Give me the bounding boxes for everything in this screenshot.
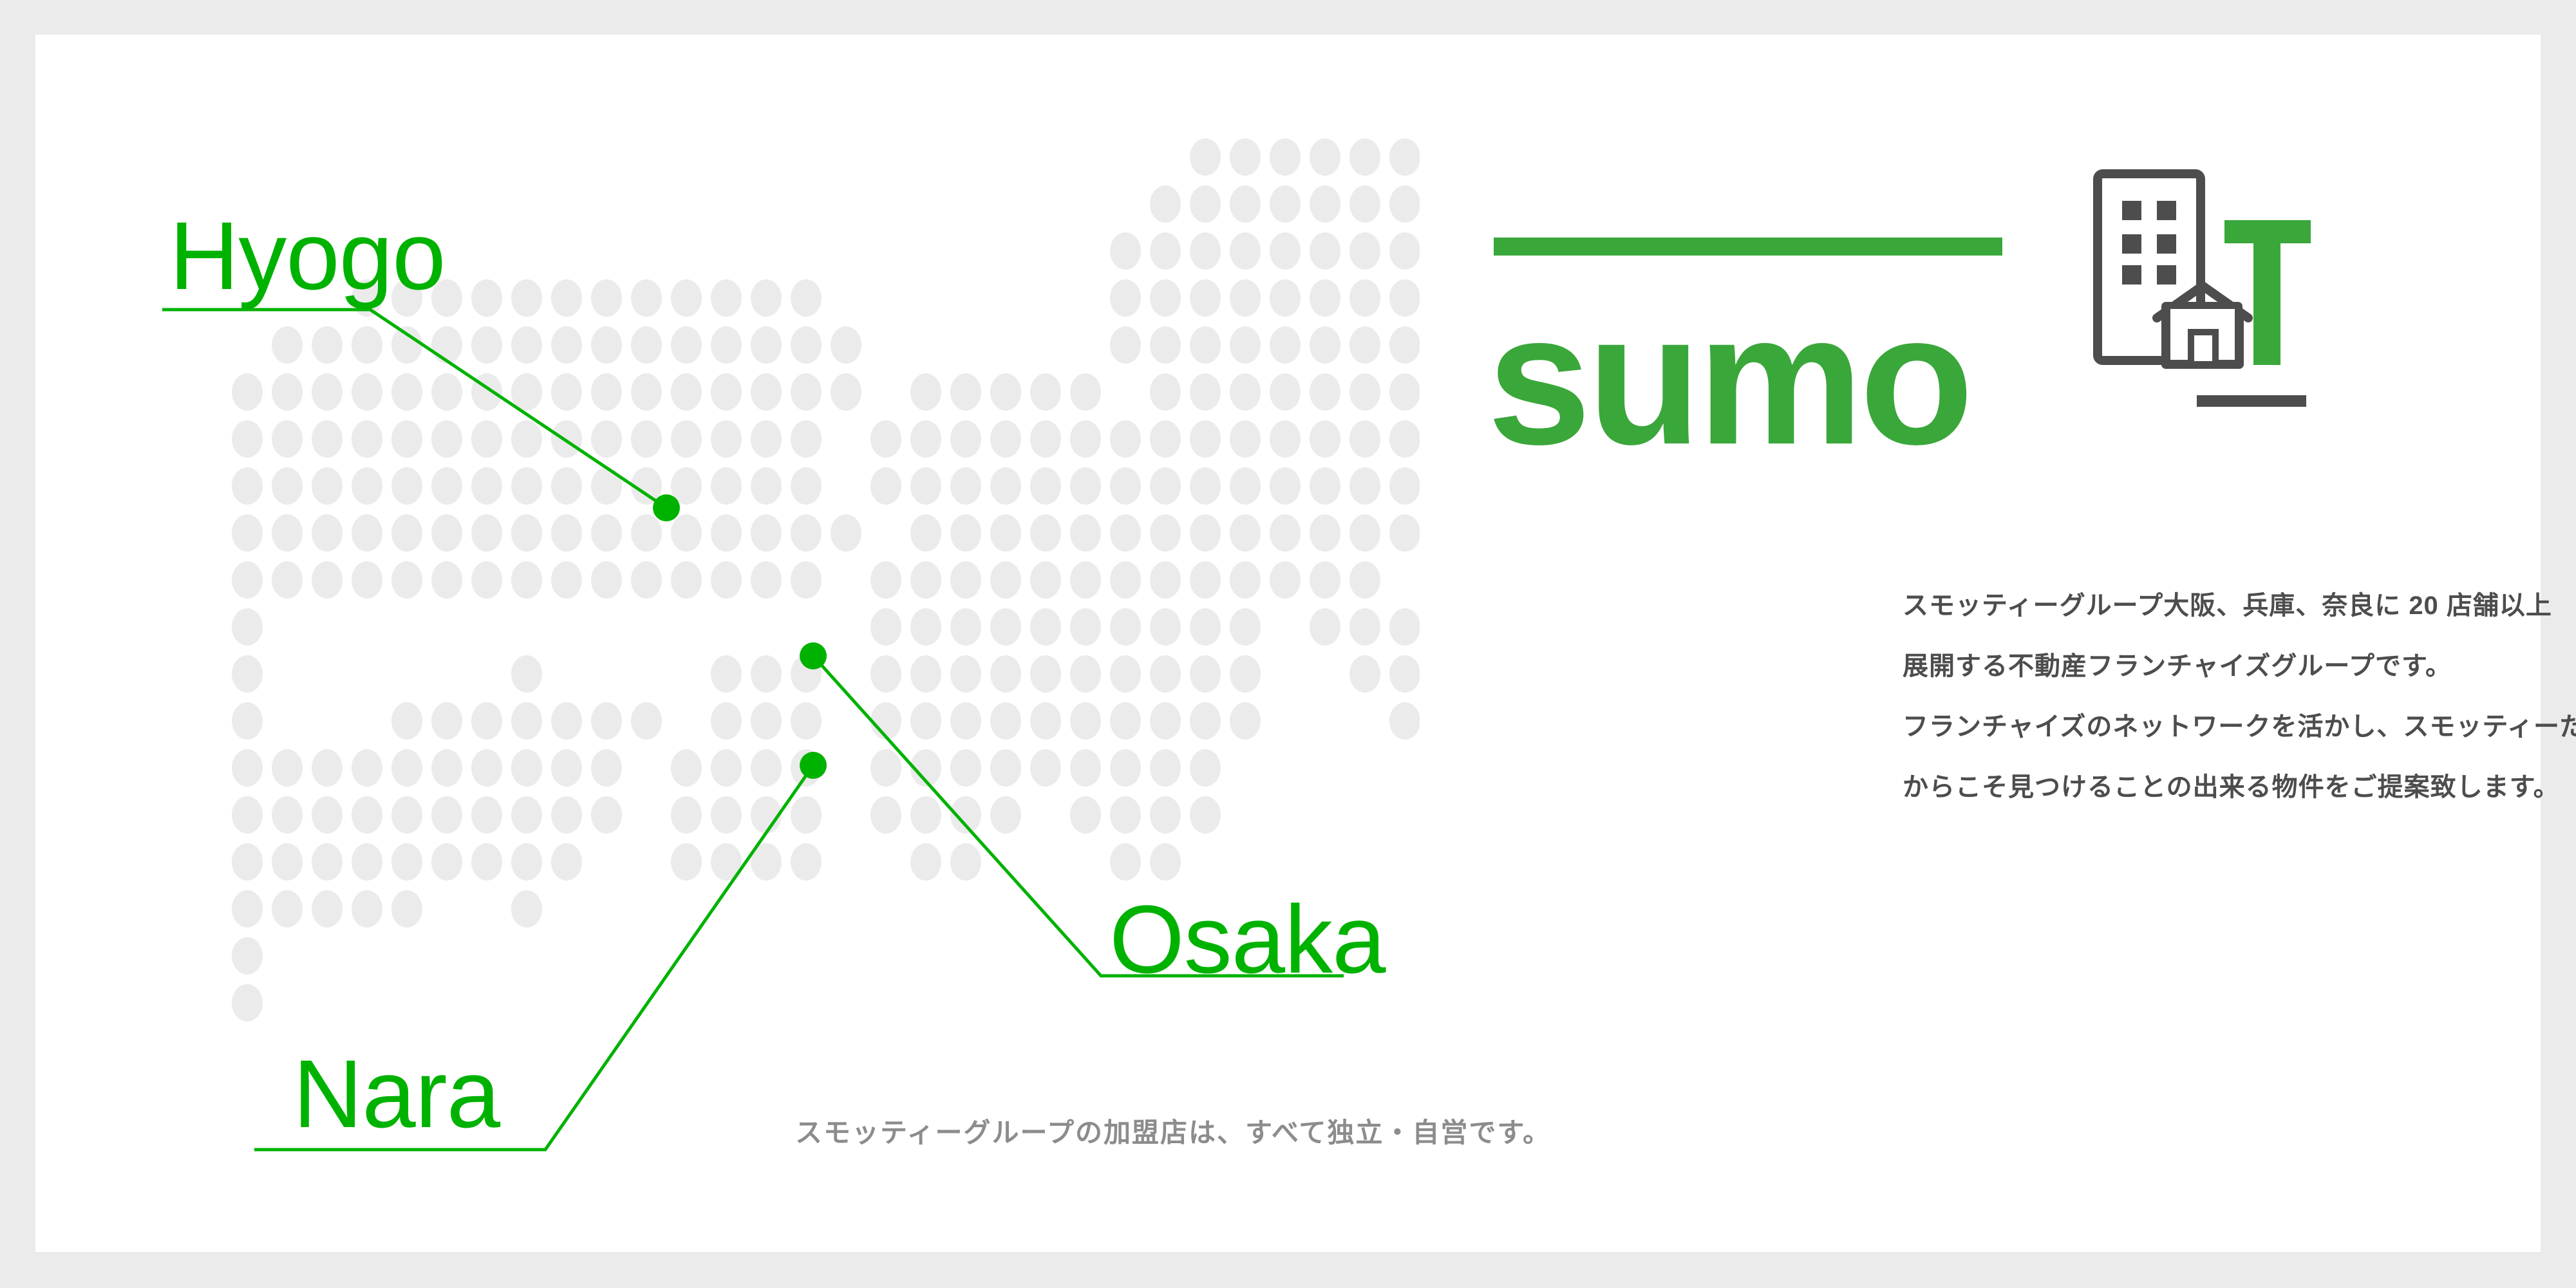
- sumo-t-logo[interactable]: sumo: [1487, 183, 2324, 472]
- map-dot: [1310, 608, 1340, 646]
- map-dot: [751, 326, 782, 364]
- map-dot: [471, 702, 502, 740]
- map-dot: [591, 796, 622, 834]
- map-dot: [751, 655, 782, 693]
- window-icon: [2157, 234, 2176, 254]
- map-label-nara[interactable]: Nara: [293, 1045, 500, 1142]
- map-dot: [791, 279, 822, 317]
- map-dot: [511, 843, 542, 881]
- map-dot: [352, 373, 382, 411]
- map-dot: [791, 467, 822, 505]
- map-dot: [1190, 561, 1221, 599]
- map-dot: [870, 467, 901, 505]
- map-dot: [591, 279, 622, 317]
- map-dot: [751, 514, 782, 552]
- description-line: フランチャイズのネットワークを活かし、スモッティーだ: [1903, 696, 2576, 757]
- map-dot: [1110, 279, 1141, 317]
- map-dot: [591, 702, 622, 740]
- map-dot: [272, 796, 303, 834]
- map-dot: [1270, 514, 1301, 552]
- map-dot: [1389, 420, 1420, 458]
- house-door-icon: [2191, 332, 2215, 364]
- map-dot: [1190, 232, 1221, 270]
- map-dot: [711, 514, 742, 552]
- map-dot: [1349, 655, 1380, 693]
- map-dot: [910, 843, 941, 881]
- map-dot: [1230, 279, 1261, 317]
- map-dot: [471, 514, 502, 552]
- map-dot: [1230, 326, 1261, 364]
- map-dot: [1230, 655, 1261, 693]
- map-dot: [1150, 514, 1181, 552]
- map-dot: [631, 561, 662, 599]
- window-icon: [2122, 201, 2141, 220]
- map-dot: [232, 749, 263, 787]
- map-dot: [711, 561, 742, 599]
- map-dot: [671, 843, 702, 881]
- map-dot: [751, 467, 782, 505]
- map-dot: [471, 749, 502, 787]
- map-dot: [1070, 702, 1101, 740]
- map-dot: [1110, 655, 1141, 693]
- map-dot: [990, 561, 1021, 599]
- map-dot: [870, 655, 901, 693]
- map-dot: [511, 561, 542, 599]
- map-dot: [232, 702, 263, 740]
- map-dot: [431, 467, 462, 505]
- map-dot: [391, 796, 422, 834]
- map-dot: [1310, 561, 1340, 599]
- map-dot: [751, 420, 782, 458]
- map-dot: [751, 373, 782, 411]
- map-dot: [391, 890, 422, 928]
- map-dot: [272, 326, 303, 364]
- map-dot: [272, 373, 303, 411]
- map-dot: [272, 561, 303, 599]
- map-label-hyogo[interactable]: Hyogo: [169, 207, 446, 304]
- map-dot: [312, 373, 343, 411]
- map-dot: [711, 796, 742, 834]
- map-dot: [431, 749, 462, 787]
- map-dot: [312, 514, 343, 552]
- map-dot: [1190, 796, 1221, 834]
- map-dot: [312, 420, 343, 458]
- map-dot: [1190, 702, 1221, 740]
- map-dot: [391, 843, 422, 881]
- map-dot: [232, 890, 263, 928]
- map-dot: [671, 561, 702, 599]
- map-dot: [1349, 373, 1380, 411]
- map-dot: [671, 796, 702, 834]
- map-dot: [1110, 467, 1141, 505]
- logo-bottom-bar: [2197, 395, 2306, 407]
- map-dot: [1389, 326, 1420, 364]
- description-line: スモッティーグループ大阪、兵庫、奈良に 20 店舗以上: [1903, 575, 2576, 636]
- map-dot: [511, 467, 542, 505]
- map-dot: [272, 420, 303, 458]
- map-dot: [1150, 655, 1181, 693]
- map-dot: [671, 749, 702, 787]
- map-dot: [751, 749, 782, 787]
- map-dot: [1150, 420, 1181, 458]
- map-dot: [431, 843, 462, 881]
- map-dot: [1190, 185, 1221, 223]
- description-line: 展開する不動産フランチャイズグループです。: [1903, 636, 2576, 696]
- map-dot: [1310, 185, 1340, 223]
- map-dot: [511, 279, 542, 317]
- map-dot: [1150, 749, 1181, 787]
- map-dot: [551, 796, 582, 834]
- map-dot: [1349, 467, 1380, 505]
- map-dot: [1389, 138, 1420, 176]
- map-dot: [1030, 702, 1061, 740]
- map-dot: [1150, 561, 1181, 599]
- map-dot: [1190, 749, 1221, 787]
- map-dot: [711, 655, 742, 693]
- map-dot: [1389, 232, 1420, 270]
- map-dot: [1070, 561, 1101, 599]
- map-dot: [1389, 185, 1420, 223]
- map-dot: [471, 420, 502, 458]
- map-dot: [272, 890, 303, 928]
- map-dot: [751, 279, 782, 317]
- map-dot: [1110, 749, 1141, 787]
- map-dot: [711, 420, 742, 458]
- map-dot: [870, 796, 901, 834]
- map-dot: [950, 749, 981, 787]
- map-dot: [950, 373, 981, 411]
- map-dot: [1349, 608, 1380, 646]
- content-card: Hyogo Osaka Nara sumo: [35, 35, 2541, 1252]
- map-dot: [1270, 420, 1301, 458]
- map-marker-osaka[interactable]: [800, 642, 827, 669]
- map-dot: [232, 467, 263, 505]
- map-dot: [1270, 279, 1301, 317]
- map-dot: [950, 420, 981, 458]
- map-dot: [1230, 373, 1261, 411]
- map-dot: [1070, 373, 1101, 411]
- map-dot: [1230, 232, 1261, 270]
- map-dot: [1349, 561, 1380, 599]
- map-dot: [870, 702, 901, 740]
- map-dot: [910, 373, 941, 411]
- map-dot: [591, 514, 622, 552]
- map-dot: [910, 561, 941, 599]
- map-dot: [1190, 514, 1221, 552]
- map-dot: [950, 608, 981, 646]
- map-dot: [511, 749, 542, 787]
- map-dot: [312, 843, 343, 881]
- kansai-dot-map: Hyogo Osaka Nara: [35, 35, 1420, 1252]
- window-icon: [2122, 265, 2141, 285]
- description-block: スモッティーグループ大阪、兵庫、奈良に 20 店舗以上 展開する不動産フランチャ…: [1903, 575, 2576, 817]
- map-dot: [591, 561, 622, 599]
- map-dot: [312, 561, 343, 599]
- map-dot: [1349, 279, 1380, 317]
- map-dot: [1349, 232, 1380, 270]
- map-dot: [312, 467, 343, 505]
- map-dot: [1310, 514, 1340, 552]
- map-dot: [1030, 655, 1061, 693]
- map-dot: [431, 420, 462, 458]
- map-dot: [1070, 749, 1101, 787]
- map-dot: [511, 796, 542, 834]
- map-dot: [1190, 467, 1221, 505]
- map-dot: [1150, 279, 1181, 317]
- map-dot: [950, 514, 981, 552]
- map-dot: [1030, 749, 1061, 787]
- map-dot: [431, 373, 462, 411]
- map-dot: [391, 702, 422, 740]
- map-dot: [1190, 655, 1221, 693]
- map-dot: [352, 561, 382, 599]
- map-dot: [1150, 702, 1181, 740]
- map-dot: [1310, 420, 1340, 458]
- map-dot: [631, 279, 662, 317]
- map-dot: [1110, 232, 1141, 270]
- map-dot: [511, 655, 542, 693]
- map-dot: [232, 420, 263, 458]
- map-dot: [1230, 467, 1261, 505]
- map-dot: [910, 796, 941, 834]
- map-dot: [551, 702, 582, 740]
- map-dot: [1310, 373, 1340, 411]
- map-dot: [910, 467, 941, 505]
- map-dot: [831, 326, 861, 364]
- map-dot: [591, 420, 622, 458]
- map-dot: [551, 373, 582, 411]
- map-dot: [1150, 467, 1181, 505]
- map-dot: [391, 514, 422, 552]
- map-dot: [711, 279, 742, 317]
- map-dot: [232, 843, 263, 881]
- map-dot: [711, 702, 742, 740]
- map-dot: [751, 702, 782, 740]
- map-dot: [312, 890, 343, 928]
- map-dot: [1190, 373, 1221, 411]
- map-label-osaka[interactable]: Osaka: [1109, 891, 1386, 987]
- map-dot: [1110, 514, 1141, 552]
- map-dot: [1349, 326, 1380, 364]
- window-icon: [2157, 265, 2176, 285]
- map-dot: [910, 655, 941, 693]
- map-dot: [1110, 326, 1141, 364]
- map-dot: [272, 749, 303, 787]
- map-dot: [272, 467, 303, 505]
- map-dot: [910, 702, 941, 740]
- map-dot: [511, 420, 542, 458]
- map-dot: [990, 608, 1021, 646]
- map-dot: [511, 702, 542, 740]
- map-dot: [1270, 138, 1301, 176]
- map-dot: [711, 373, 742, 411]
- map-dot: [391, 467, 422, 505]
- map-dot: [511, 514, 542, 552]
- map-dot: [232, 514, 263, 552]
- map-dot: [1070, 655, 1101, 693]
- map-dot: [471, 467, 502, 505]
- map-dot: [1230, 702, 1261, 740]
- map-dot: [631, 373, 662, 411]
- map-dot: [1230, 420, 1261, 458]
- map-dot: [551, 279, 582, 317]
- map-dot: [870, 420, 901, 458]
- map-dot: [1310, 326, 1340, 364]
- map-dot: [1070, 420, 1101, 458]
- map-dot: [471, 796, 502, 834]
- map-dot: [1389, 279, 1420, 317]
- map-dot: [1270, 185, 1301, 223]
- map-dot: [352, 326, 382, 364]
- map-dot: [711, 326, 742, 364]
- map-dot: [1230, 561, 1261, 599]
- map-dot: [1349, 514, 1380, 552]
- map-dot: [232, 937, 263, 975]
- map-dot: [1150, 843, 1181, 881]
- map-dot: [352, 843, 382, 881]
- map-dot: [232, 984, 263, 1022]
- map-dot: [312, 796, 343, 834]
- map-dot: [791, 373, 822, 411]
- map-dot: [1110, 843, 1141, 881]
- map-dot: [471, 279, 502, 317]
- map-dot: [711, 749, 742, 787]
- map-dot: [1110, 561, 1141, 599]
- map-dot: [232, 655, 263, 693]
- map-dot: [1030, 373, 1061, 411]
- logo-wordmark: sumo: [1487, 286, 1970, 472]
- map-dot: [1030, 561, 1061, 599]
- map-dot: [551, 843, 582, 881]
- map-dot: [1110, 420, 1141, 458]
- footnote-text: スモッティーグループの加盟店は、すべて独立・自営です。: [795, 1111, 1551, 1150]
- map-dot: [272, 514, 303, 552]
- window-icon: [2122, 234, 2141, 254]
- map-dot: [791, 326, 822, 364]
- map-dot: [431, 702, 462, 740]
- map-dot: [352, 420, 382, 458]
- map-dot: [1389, 702, 1420, 740]
- map-dot: [1110, 702, 1141, 740]
- map-dot: [990, 702, 1021, 740]
- map-dot: [1030, 420, 1061, 458]
- map-dot: [1070, 608, 1101, 646]
- window-icon: [2157, 201, 2176, 220]
- map-dot: [1349, 138, 1380, 176]
- map-dot: [431, 514, 462, 552]
- map-dot: [232, 796, 263, 834]
- map-dot: [950, 843, 981, 881]
- map-dot: [671, 373, 702, 411]
- map-dot: [1389, 655, 1420, 693]
- building-and-house-icon: [2086, 163, 2344, 434]
- map-dot: [551, 514, 582, 552]
- map-dot: [1230, 185, 1261, 223]
- map-dot: [910, 420, 941, 458]
- map-dot: [990, 373, 1021, 411]
- map-dot: [391, 326, 422, 364]
- map-dot: [1070, 514, 1101, 552]
- map-dot: [671, 326, 702, 364]
- map-dot: [232, 561, 263, 599]
- map-marker-nara[interactable]: [800, 752, 827, 779]
- map-dot: [551, 467, 582, 505]
- map-dot: [870, 608, 901, 646]
- map-dot: [831, 514, 861, 552]
- map-dot: [1310, 279, 1340, 317]
- map-dot: [1150, 373, 1181, 411]
- map-dot: [1389, 373, 1420, 411]
- map-dot: [791, 796, 822, 834]
- map-dot: [352, 514, 382, 552]
- map-dot: [471, 326, 502, 364]
- map-dot: [352, 467, 382, 505]
- map-dot: [511, 373, 542, 411]
- map-dot: [671, 279, 702, 317]
- map-dot: [1270, 467, 1301, 505]
- map-dot: [1150, 796, 1181, 834]
- map-dot: [711, 467, 742, 505]
- map-dot: [831, 373, 861, 411]
- map-dot: [1030, 608, 1061, 646]
- map-dot: [631, 420, 662, 458]
- map-dot: [1310, 138, 1340, 176]
- map-dot: [312, 749, 343, 787]
- map-dot: [1150, 326, 1181, 364]
- map-dot: [1030, 467, 1061, 505]
- map-dot: [352, 890, 382, 928]
- map-dot: [391, 373, 422, 411]
- map-dot: [870, 749, 901, 787]
- map-dot: [591, 467, 622, 505]
- map-dot: [551, 749, 582, 787]
- map-dot: [1230, 138, 1261, 176]
- map-dot: [1270, 373, 1301, 411]
- map-dot: [1310, 232, 1340, 270]
- map-dot: [272, 843, 303, 881]
- map-dot: [591, 749, 622, 787]
- map-dot: [990, 749, 1021, 787]
- map-dot: [631, 326, 662, 364]
- map-dot: [431, 561, 462, 599]
- map-dot: [1190, 608, 1221, 646]
- map-dot: [1150, 232, 1181, 270]
- map-dot: [1110, 608, 1141, 646]
- map-dot: [1270, 561, 1301, 599]
- map-dot: [391, 420, 422, 458]
- map-dot: [1230, 608, 1261, 646]
- map-dot: [950, 655, 981, 693]
- map-marker-hyogo[interactable]: [653, 494, 680, 521]
- map-dot: [1070, 467, 1101, 505]
- map-dot: [671, 420, 702, 458]
- map-dot: [791, 561, 822, 599]
- map-dot: [471, 843, 502, 881]
- right-column: sumo: [1487, 35, 2543, 1252]
- map-dot: [511, 890, 542, 928]
- map-dot: [1349, 185, 1380, 223]
- map-dot: [791, 420, 822, 458]
- map-dot: [910, 514, 941, 552]
- map-dot: [352, 796, 382, 834]
- map-dot: [990, 655, 1021, 693]
- map-dot: [631, 702, 662, 740]
- map-dot: [751, 561, 782, 599]
- map-dot: [1030, 514, 1061, 552]
- map-dot: [671, 514, 702, 552]
- map-dot: [1349, 420, 1380, 458]
- map-dot: [950, 561, 981, 599]
